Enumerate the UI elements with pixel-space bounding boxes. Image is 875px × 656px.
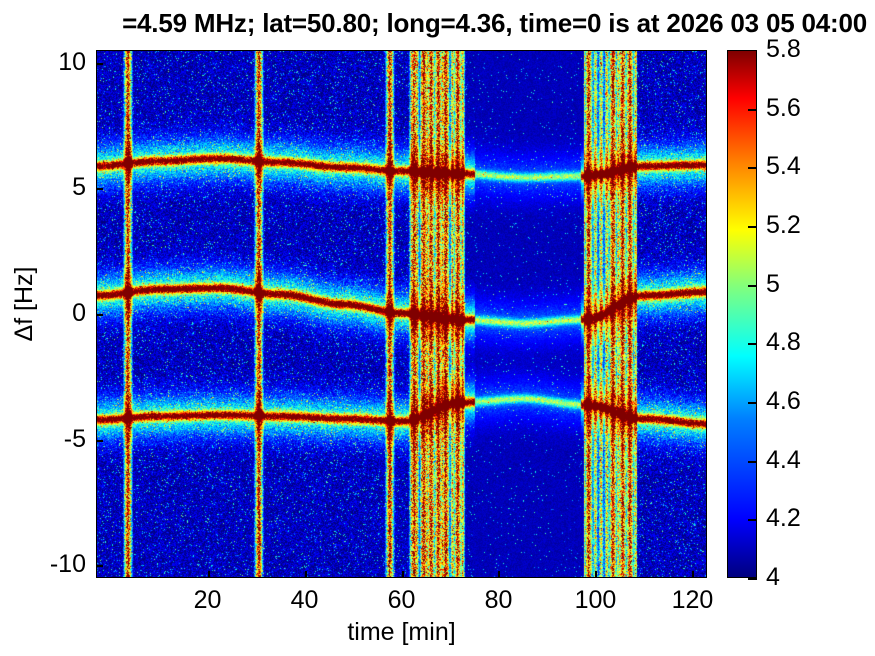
colorbar-tick-label: 4.4 [766, 448, 856, 473]
colorbar-tick-label: 5.8 [766, 37, 856, 62]
colorbar-tick-label: 5.4 [766, 154, 856, 179]
colorbar-tick-label: 4.8 [766, 330, 856, 355]
x-tick-label: 60 [352, 586, 452, 614]
y-tick-mark [96, 188, 103, 190]
x-tick-mark [208, 571, 210, 578]
y-tick-mark [96, 63, 103, 65]
colorbar-tick-mark [748, 285, 757, 287]
y-axis-label: Δf [Hz] [10, 194, 38, 414]
colorbar [727, 50, 757, 578]
x-tick-label: 100 [545, 586, 645, 614]
colorbar-tick-mark [748, 343, 757, 345]
colorbar-tick-mark [748, 167, 757, 169]
x-tick-label: 80 [448, 586, 548, 614]
x-tick-mark [305, 571, 307, 578]
x-tick-label: 20 [158, 586, 258, 614]
colorbar-tick-label: 5 [766, 272, 856, 297]
x-tick-label: 40 [255, 586, 355, 614]
y-tick-mark [96, 565, 103, 567]
colorbar-tick-mark [748, 519, 757, 521]
x-tick-mark [692, 571, 694, 578]
colorbar-tick-mark [748, 461, 757, 463]
x-axis-label: time [min] [96, 618, 707, 646]
colorbar-tick-mark [748, 226, 757, 228]
colorbar-tick-label: 4.6 [766, 389, 856, 414]
x-tick-label: 120 [642, 586, 742, 614]
x-tick-mark [402, 571, 404, 578]
colorbar-tick-label: 4.2 [766, 506, 856, 531]
colorbar-gradient [727, 50, 757, 578]
colorbar-tick-label: 4 [766, 565, 856, 590]
x-tick-mark [498, 571, 500, 578]
y-tick-mark [96, 440, 103, 442]
x-tick-mark [595, 571, 597, 578]
y-tick-mark [96, 314, 103, 316]
colorbar-tick-label: 5.6 [766, 96, 856, 121]
colorbar-tick-mark [748, 402, 757, 404]
colorbar-tick-label: 5.2 [766, 213, 856, 238]
colorbar-tick-mark [748, 578, 757, 580]
colorbar-tick-mark [748, 109, 757, 111]
